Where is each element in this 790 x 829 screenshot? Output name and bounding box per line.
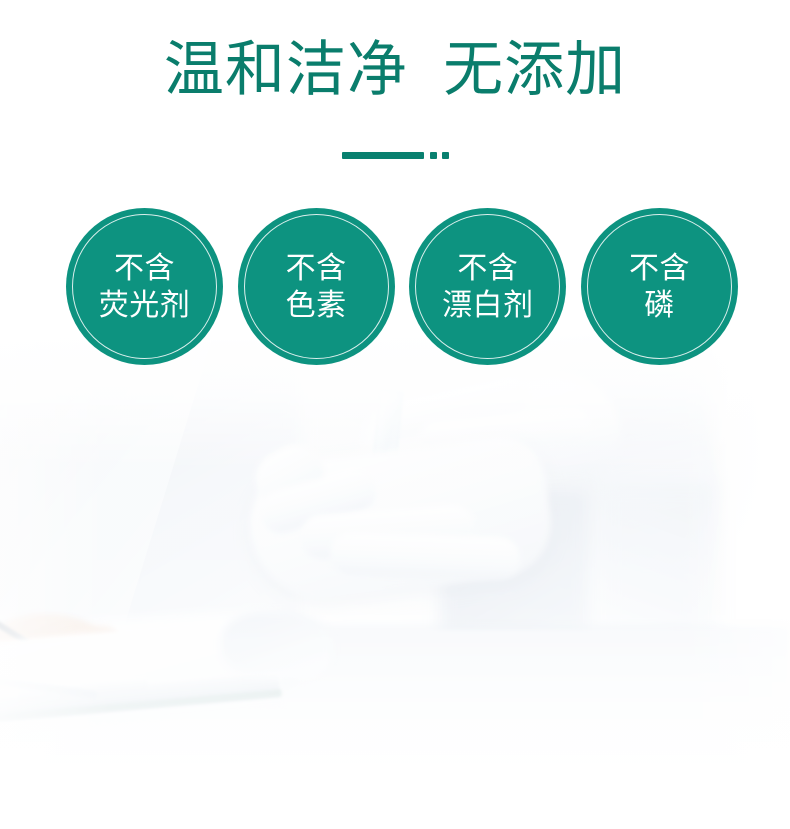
divider-dot-1 — [430, 152, 437, 159]
badge-line-2: 磷 — [644, 287, 675, 324]
promo-page: 温和洁净 无添加 不含 荧光剂 不含 色素 不含 漂白剂 不含 磷 — [0, 0, 790, 829]
page-title: 温和洁净 无添加 — [0, 34, 790, 106]
badge-line-1: 不含 — [457, 250, 518, 287]
badge-line-1: 不含 — [114, 250, 175, 287]
badge-line-1: 不含 — [286, 250, 347, 287]
lab-photo — [0, 330, 790, 829]
section-divider — [0, 148, 790, 162]
badge-no-phosphorus[interactable]: 不含 磷 — [581, 208, 738, 365]
badge-no-bleach[interactable]: 不含 漂白剂 — [409, 208, 566, 365]
lab-equipment — [222, 612, 332, 678]
badge-no-pigment[interactable]: 不含 色素 — [238, 208, 395, 365]
badge-line-2: 漂白剂 — [442, 287, 534, 324]
badge-line-2: 色素 — [286, 287, 347, 324]
badge-line-2: 荧光剂 — [99, 287, 191, 324]
badge-no-fluorescent-agent[interactable]: 不含 荧光剂 — [66, 208, 223, 365]
background-panel-secondary — [600, 480, 720, 640]
divider-bar — [342, 152, 424, 159]
glove-finger-3 — [329, 532, 520, 581]
divider-dot-2 — [442, 152, 449, 159]
badge-line-1: 不含 — [629, 250, 690, 287]
feature-badge-group: 不含 荧光剂 不含 色素 不含 漂白剂 不含 磷 — [66, 208, 738, 365]
